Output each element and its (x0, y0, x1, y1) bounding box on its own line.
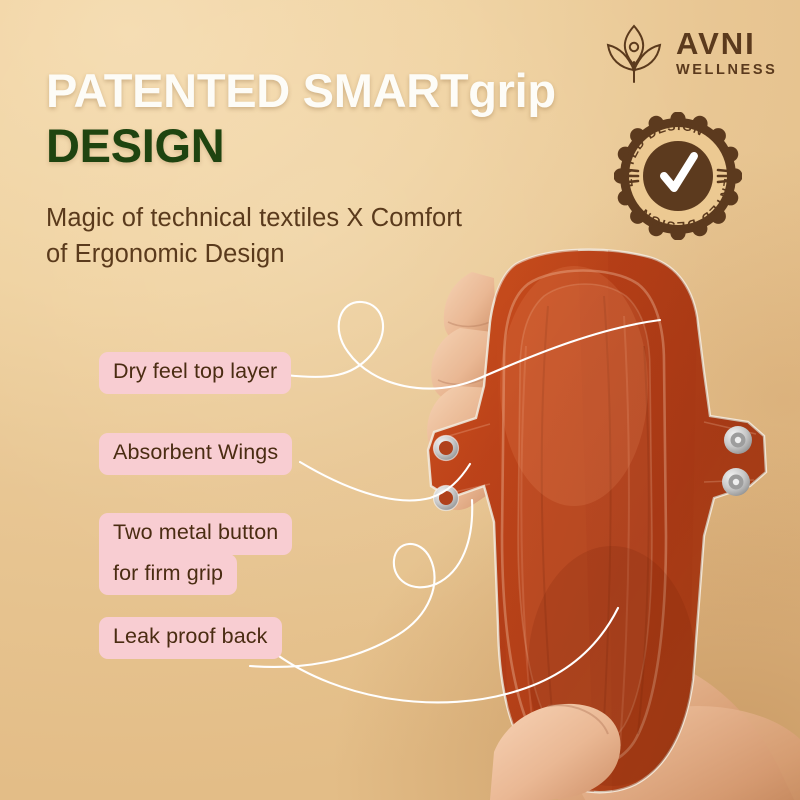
subtitle-line-1: Magic of technical textiles X Comfort (46, 204, 462, 232)
brand-wordmark: AVNI WELLNESS (676, 28, 777, 78)
snap-ring (434, 486, 459, 511)
brand-logo: AVNI WELLNESS (604, 22, 777, 84)
feature-label: Dry feel top layer (99, 352, 291, 394)
feature-leak-proof-back: Leak proof back (99, 617, 282, 659)
feature-absorbent-wings: Absorbent Wings (99, 433, 292, 475)
snap-ring (434, 436, 459, 461)
product-photo (398, 236, 800, 800)
subtitle-line-2: of Ergonomic Design (46, 240, 285, 268)
avni-plant-figure-icon (604, 22, 664, 84)
feature-label: for firm grip (99, 554, 237, 596)
headline-line-2: DESIGN (46, 119, 606, 174)
feature-label: Two metal button (99, 513, 292, 555)
patented-design-badge: PATENTED DESIGN PATENTED DESIGN (614, 112, 742, 240)
snap-stud (724, 426, 752, 454)
feature-dry-feel-top-layer: Dry feel top layer (99, 352, 291, 394)
headline-line-1: PATENTED SMARTgrip (46, 64, 556, 117)
feature-label: Leak proof back (99, 617, 282, 659)
feature-two-metal-button: Two metal button for firm grip (99, 513, 292, 595)
brand-name: AVNI (676, 28, 777, 59)
brand-tagline: WELLNESS (676, 63, 777, 78)
feature-label: Absorbent Wings (99, 433, 292, 475)
snap-stud (722, 468, 750, 496)
product-feature-poster: PATENTED SMARTgrip DESIGN Magic of techn… (0, 0, 800, 800)
subtitle: Magic of technical textiles X Comfort of… (46, 200, 566, 272)
page-title: PATENTED SMARTgrip DESIGN (46, 64, 606, 173)
